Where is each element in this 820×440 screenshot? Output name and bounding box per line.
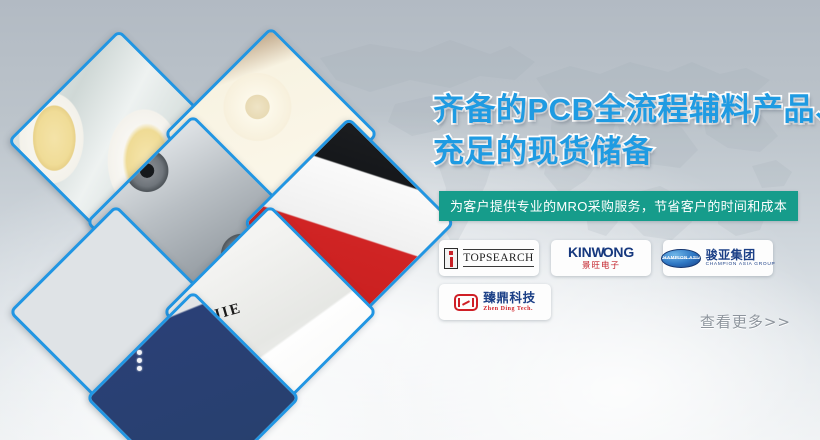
topsearch-mark-icon (444, 248, 458, 269)
zhen-ding-mark-icon (454, 294, 478, 311)
kinwong-en-mid: W (592, 244, 603, 260)
product-image-collage: JIE (0, 0, 430, 440)
champion-asia-globe-icon: CHAMPION ASIA (661, 249, 701, 268)
kinwong-label-cn: 景旺电子 (568, 262, 634, 271)
view-more-link[interactable]: 查看更多>> (700, 315, 791, 330)
banner-headline-line2: 充足的现货储备 (433, 134, 654, 171)
champion-asia-label-cn: 骏亚集团 (706, 249, 776, 261)
topsearch-rule-bottom (463, 266, 534, 267)
champion-asia-globe-text: CHAMPION ASIA (661, 256, 701, 261)
kinwong-label-en: KINWONG (568, 245, 634, 259)
logo-topsearch[interactable]: TOPSEARCH (439, 240, 539, 276)
banner-subtitle-bar: 为客户提供专业的MRO采购服务，节省客户的时间和成本 (439, 191, 798, 221)
champion-asia-label-en: CHAMPION ASIA GROUP (706, 263, 776, 268)
blue-board-dots (131, 347, 142, 371)
banner-subtitle-text: 为客户提供专业的MRO采购服务，节省客户的时间和成本 (450, 200, 787, 213)
logo-zhen-ding[interactable]: 臻鼎科技 Zhen Ding Tech. (439, 284, 551, 320)
banner-copy: 齐备的PCB全流程辅料产品、 充足的现货储备 为客户提供专业的MRO采购服务，节… (428, 0, 820, 440)
topsearch-label: TOPSEARCH (463, 250, 534, 266)
logo-champion-asia[interactable]: CHAMPION ASIA 骏亚集团 CHAMPION ASIA GROUP (663, 240, 773, 276)
banner-headline-line1: 齐备的PCB全流程辅料产品、 (433, 92, 820, 129)
kinwong-en-head: KIN (568, 244, 592, 260)
zhen-ding-label-en: Zhen Ding Tech. (483, 306, 535, 312)
logo-kinwong[interactable]: KINWONG 景旺电子 (551, 240, 651, 276)
promo-banner: JIE 齐备的PCB全流程辅料产品、 充足的现货储备 为客户提供专业的MRO采购… (0, 0, 820, 440)
customer-logo-row-1: TOPSEARCH KINWONG 景旺电子 CHAMPION ASIA (439, 240, 819, 276)
zhen-ding-label-cn: 臻鼎科技 (483, 292, 535, 305)
kinwong-en-tail: ONG (603, 244, 634, 260)
